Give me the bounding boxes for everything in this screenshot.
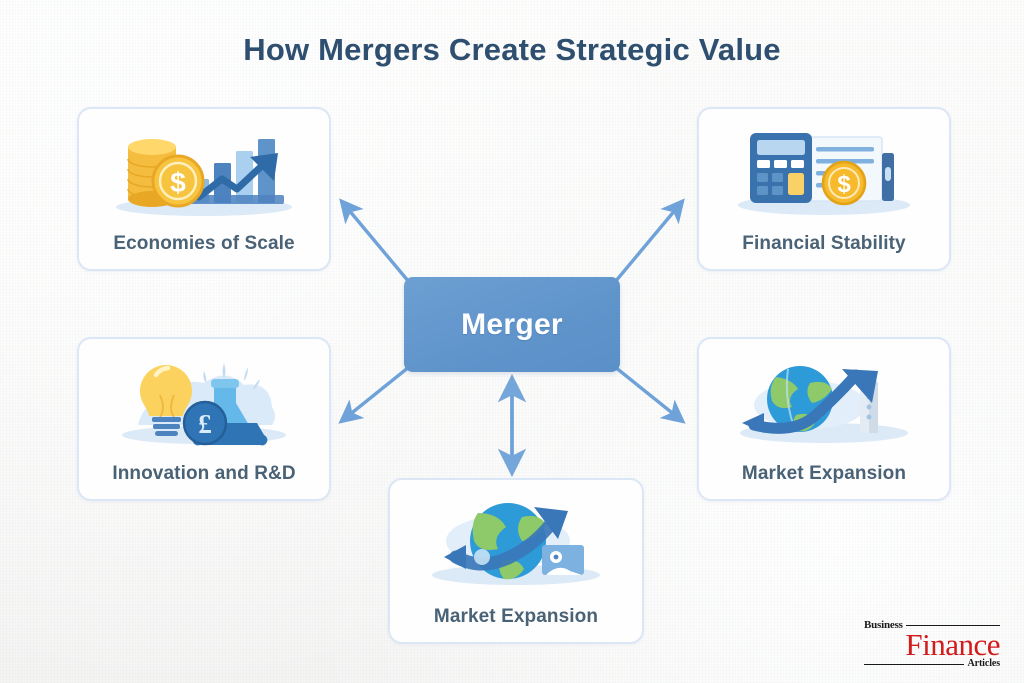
- card-economies-of-scale[interactable]: $ Economies of Scale: [77, 107, 331, 271]
- logo-rule-bottom: [864, 664, 964, 665]
- logo-line-business: Business: [864, 620, 903, 631]
- card-label: Market Expansion: [434, 606, 598, 642]
- logo-line-finance: Finance: [864, 630, 1000, 659]
- arrow-merger-to-innovation-and-rd: [343, 367, 409, 420]
- calculator-document-dollar-coin-icon: $: [699, 109, 949, 233]
- svg-text:$: $: [170, 167, 186, 198]
- arrow-merger-to-economies-of-scale: [343, 203, 409, 282]
- card-label: Innovation and R&D: [112, 463, 295, 499]
- lightbulb-flask-pound-coin-icon: £: [79, 339, 329, 463]
- globe-arrow-screen-icon: [390, 480, 642, 606]
- card-financial-stability[interactable]: $ Financial Stability: [697, 107, 951, 271]
- center-node-label: Merger: [461, 308, 563, 342]
- logo-line-articles: Articles: [967, 659, 1000, 669]
- coin-stack-bar-chart-growth-icon: $: [79, 109, 329, 233]
- arrow-merger-to-financial-stability: [615, 203, 681, 282]
- card-market-expansion-right[interactable]: Market Expansion: [697, 337, 951, 501]
- svg-text:$: $: [837, 171, 851, 198]
- svg-text:£: £: [198, 409, 212, 439]
- card-label: Financial Stability: [742, 233, 905, 269]
- card-label: Market Expansion: [742, 463, 906, 499]
- brand-logo[interactable]: Business Finance Articles: [864, 620, 1000, 669]
- center-node-merger[interactable]: Merger: [404, 277, 620, 372]
- card-market-expansion-bottom[interactable]: Market Expansion: [388, 478, 644, 644]
- arrow-merger-to-market-expansion-right: [615, 367, 681, 420]
- card-label: Economies of Scale: [113, 233, 294, 269]
- card-innovation-and-rd[interactable]: £ Innovation and R&D: [77, 337, 331, 501]
- logo-rule-top: [906, 625, 1000, 626]
- globe-growth-arrow-icon: [699, 339, 949, 463]
